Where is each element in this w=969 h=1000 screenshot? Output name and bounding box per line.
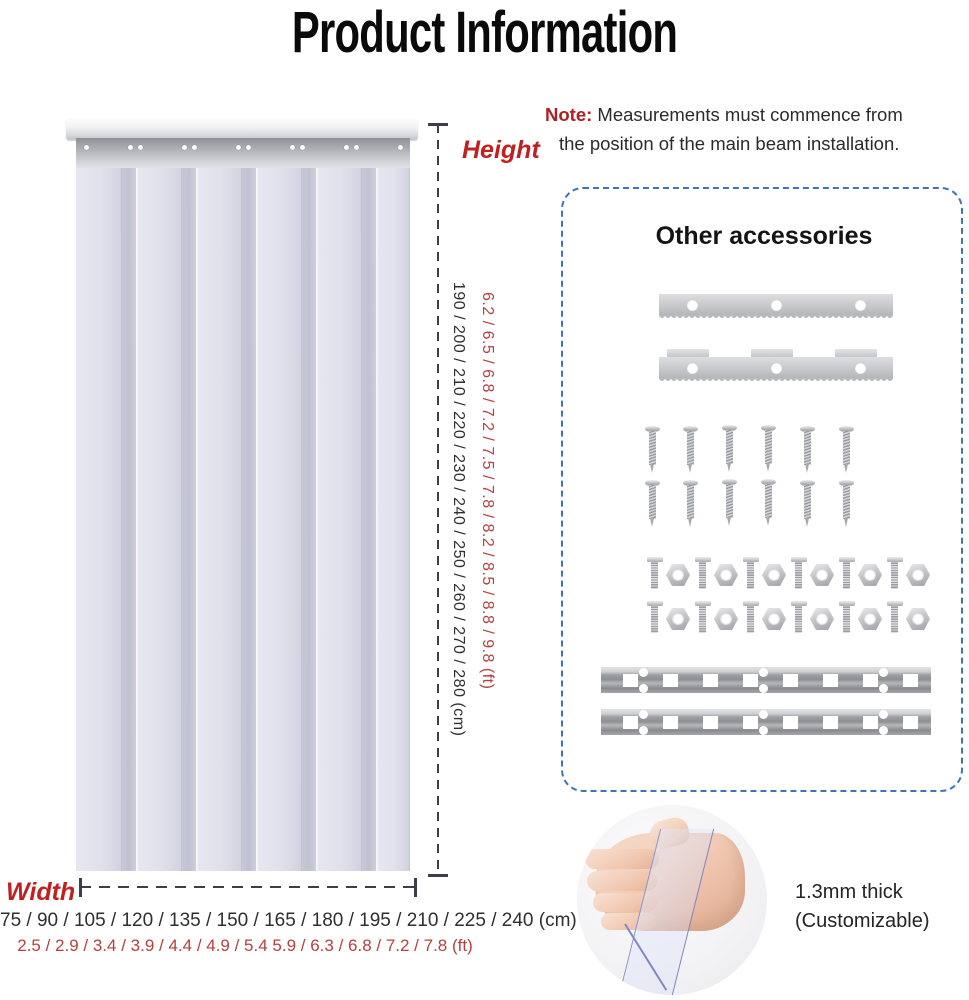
rail-notch bbox=[903, 674, 918, 687]
width-values-ft: 2.5 / 2.9 / 3.4 / 3.9 / 4.4 / 4.9 / 5.4 … bbox=[0, 936, 490, 956]
rail-hole bbox=[759, 684, 768, 693]
serrated-mounting-plate-with-tabs-icon bbox=[659, 357, 893, 387]
screw-shank bbox=[765, 484, 772, 518]
height-values-cm: 190 / 200 / 210 / 220 / 230 / 240 / 250 … bbox=[449, 282, 467, 736]
rail-notch bbox=[623, 716, 638, 729]
screw-icon bbox=[802, 426, 813, 473]
screw-icon bbox=[841, 426, 852, 473]
strip-highlight bbox=[316, 168, 319, 871]
pvc-strip-overlap bbox=[362, 168, 376, 871]
rail-hole bbox=[639, 668, 648, 677]
bolt-shank bbox=[795, 562, 802, 589]
main-beam bbox=[66, 118, 418, 140]
screw-icon bbox=[724, 425, 735, 472]
screw-icon bbox=[685, 480, 696, 527]
screw-tip bbox=[805, 518, 809, 527]
screw-icon bbox=[763, 479, 774, 526]
hex-nut-hole bbox=[768, 569, 780, 581]
bolt-shank bbox=[891, 562, 898, 589]
page-title: Product Information bbox=[136, 2, 834, 64]
screw-shank bbox=[649, 485, 656, 519]
bolt-shank bbox=[699, 606, 706, 633]
screw-icon bbox=[647, 480, 658, 527]
bolt-shank bbox=[747, 606, 754, 633]
screw-tip bbox=[844, 464, 848, 473]
rail-notch bbox=[623, 674, 638, 687]
bolt-shank bbox=[651, 606, 658, 633]
note-line-2: the position of the main beam installati… bbox=[545, 129, 969, 158]
rail-notch bbox=[823, 674, 838, 687]
pvc-strip bbox=[316, 168, 362, 871]
screw-shank bbox=[726, 430, 733, 464]
rail-notch bbox=[783, 674, 798, 687]
plate-teeth bbox=[659, 378, 893, 386]
screw-shank bbox=[843, 431, 850, 465]
screw-tip bbox=[844, 518, 848, 527]
rail-notch bbox=[823, 716, 838, 729]
rail-hole bbox=[879, 710, 888, 719]
hex-nut-hole bbox=[816, 569, 828, 581]
rail-hole bbox=[879, 668, 888, 677]
hex-nut-hole bbox=[864, 569, 876, 581]
screw-tip bbox=[650, 518, 654, 527]
thickness-info: 1.3mm thick (Customizable) bbox=[795, 878, 969, 936]
strip-highlight bbox=[196, 168, 199, 871]
mounting-hole bbox=[182, 145, 187, 150]
bolt-shank bbox=[699, 562, 706, 589]
rail-notch bbox=[743, 716, 758, 729]
hex-nut-hole bbox=[912, 613, 924, 625]
pvc-strip-overlap bbox=[122, 168, 136, 871]
bolt-and-nut-icon bbox=[885, 557, 931, 591]
rail-hole bbox=[879, 726, 888, 735]
note-line-1: Measurements must commence from bbox=[592, 104, 902, 125]
rail-notch bbox=[663, 674, 678, 687]
bolt-shank bbox=[843, 606, 850, 633]
mounting-hole bbox=[300, 145, 305, 150]
curtain-header-band bbox=[76, 138, 410, 169]
pvc-strip bbox=[256, 168, 302, 871]
rail-hole bbox=[639, 684, 648, 693]
bolt-and-nut-icon bbox=[789, 601, 835, 635]
accessories-title: Other accessories bbox=[563, 222, 965, 251]
screw-shank bbox=[843, 485, 850, 519]
plate-hole bbox=[771, 363, 782, 374]
hex-nut-hole bbox=[672, 569, 684, 581]
screw-tip bbox=[688, 518, 692, 527]
bolt-shank bbox=[747, 562, 754, 589]
bolt-and-nut-icon bbox=[645, 557, 691, 591]
rail-notch bbox=[703, 674, 718, 687]
bolt-shank bbox=[891, 606, 898, 633]
height-dimension-cap-bottom bbox=[428, 874, 448, 877]
screw-shank bbox=[765, 430, 772, 464]
bolt-and-nut-icon bbox=[645, 601, 691, 635]
mounting-hole bbox=[192, 145, 197, 150]
long-mounting-rail-icon bbox=[601, 667, 931, 693]
rail-hole bbox=[759, 726, 768, 735]
pvc-strip bbox=[376, 168, 410, 871]
plate-hole bbox=[771, 300, 782, 311]
pvc-strip-overlap bbox=[302, 168, 316, 871]
height-label: Height bbox=[462, 136, 540, 165]
hex-nut-hole bbox=[816, 613, 828, 625]
long-mounting-rail-icon bbox=[601, 709, 931, 735]
hex-nut-hole bbox=[672, 613, 684, 625]
hex-nut-hole bbox=[720, 613, 732, 625]
height-dimension-line bbox=[437, 124, 439, 876]
rail-hole bbox=[879, 684, 888, 693]
note-lead-label: Note: bbox=[545, 104, 592, 125]
strip-highlight bbox=[256, 168, 259, 871]
mounting-hole bbox=[354, 145, 359, 150]
hex-nut-hole bbox=[864, 613, 876, 625]
screw-shank bbox=[804, 485, 811, 519]
finger bbox=[585, 849, 659, 869]
hex-nut-hole bbox=[720, 569, 732, 581]
rail-notch bbox=[703, 716, 718, 729]
width-values-cm: 75 / 90 / 105 / 120 / 135 / 150 / 165 / … bbox=[0, 910, 490, 932]
mounting-hole bbox=[84, 145, 89, 150]
rail-notch bbox=[743, 674, 758, 687]
screw-tip bbox=[727, 463, 731, 472]
pvc-strips bbox=[76, 168, 410, 871]
rail-notch bbox=[863, 716, 878, 729]
bolt-and-nut-icon bbox=[837, 601, 883, 635]
hex-nut-hole bbox=[768, 613, 780, 625]
bolt-and-nut-icon bbox=[693, 557, 739, 591]
screw-icon bbox=[802, 480, 813, 527]
height-values-ft: 6.2 / 6.5 / 6.8 / 7.2 / 7.5 / 7.8 / 8.2 … bbox=[478, 292, 496, 689]
screw-shank bbox=[649, 431, 656, 465]
screw-shank bbox=[726, 484, 733, 518]
rail-notch bbox=[783, 716, 798, 729]
rail-hole bbox=[759, 710, 768, 719]
screw-tip bbox=[650, 464, 654, 473]
bolt-shank bbox=[651, 562, 658, 589]
width-label: Width bbox=[6, 878, 75, 907]
pvc-strip bbox=[136, 168, 182, 871]
rail-notch bbox=[863, 674, 878, 687]
plate-hole bbox=[687, 363, 698, 374]
note-block: Note: Measurements must commence from th… bbox=[545, 100, 969, 158]
rail-notch bbox=[663, 716, 678, 729]
plate-hole bbox=[855, 363, 866, 374]
bolt-shank bbox=[795, 606, 802, 633]
other-accessories-panel: Other accessories bbox=[561, 187, 963, 792]
pvc-strip-overlap bbox=[182, 168, 196, 871]
rail-hole bbox=[639, 710, 648, 719]
pvc-strip bbox=[196, 168, 242, 871]
pvc-strip-curtain-illustration bbox=[62, 118, 420, 873]
mounting-hole bbox=[246, 145, 251, 150]
screw-tip bbox=[727, 517, 731, 526]
bolt-and-nut-icon bbox=[885, 601, 931, 635]
hex-nut-hole bbox=[912, 569, 924, 581]
pvc-strip-overlap bbox=[242, 168, 256, 871]
pvc-strip bbox=[76, 168, 122, 871]
screw-shank bbox=[804, 431, 811, 465]
screw-icon bbox=[841, 480, 852, 527]
strip-highlight bbox=[376, 168, 379, 871]
screw-icon bbox=[763, 425, 774, 472]
serrated-mounting-plate-icon bbox=[659, 294, 893, 324]
mounting-hole bbox=[398, 145, 403, 150]
width-dimension-cap-right bbox=[414, 878, 417, 897]
rail-notch bbox=[903, 716, 918, 729]
thickness-customizable: (Customizable) bbox=[795, 907, 969, 936]
height-dimension-cap-top bbox=[428, 123, 448, 126]
bolt-and-nut-icon bbox=[693, 601, 739, 635]
mounting-hole bbox=[344, 145, 349, 150]
screw-tip bbox=[688, 464, 692, 473]
rail-hole bbox=[639, 726, 648, 735]
mounting-hole bbox=[128, 145, 133, 150]
screw-shank bbox=[687, 485, 694, 519]
screw-tip bbox=[766, 517, 770, 526]
rail-hole bbox=[759, 668, 768, 677]
plate-teeth bbox=[659, 315, 893, 323]
hand-holding-pvc-photo bbox=[577, 805, 767, 995]
screw-tip bbox=[766, 463, 770, 472]
screw-icon bbox=[724, 479, 735, 526]
mounting-hole bbox=[290, 145, 295, 150]
width-dimension-line bbox=[80, 886, 416, 888]
width-dimension-cap-left bbox=[79, 878, 82, 897]
screw-shank bbox=[687, 431, 694, 465]
bolt-and-nut-icon bbox=[837, 557, 883, 591]
bolt-and-nut-icon bbox=[741, 601, 787, 635]
bolt-shank bbox=[843, 562, 850, 589]
mounting-hole bbox=[236, 145, 241, 150]
screw-icon bbox=[647, 426, 658, 473]
mounting-hole bbox=[138, 145, 143, 150]
thickness-value: 1.3mm thick bbox=[795, 878, 969, 907]
plate-hole bbox=[687, 300, 698, 311]
plate-hole bbox=[855, 300, 866, 311]
strip-highlight bbox=[136, 168, 139, 871]
bolt-and-nut-icon bbox=[789, 557, 835, 591]
screw-icon bbox=[685, 426, 696, 473]
bolt-and-nut-icon bbox=[741, 557, 787, 591]
screw-tip bbox=[805, 464, 809, 473]
